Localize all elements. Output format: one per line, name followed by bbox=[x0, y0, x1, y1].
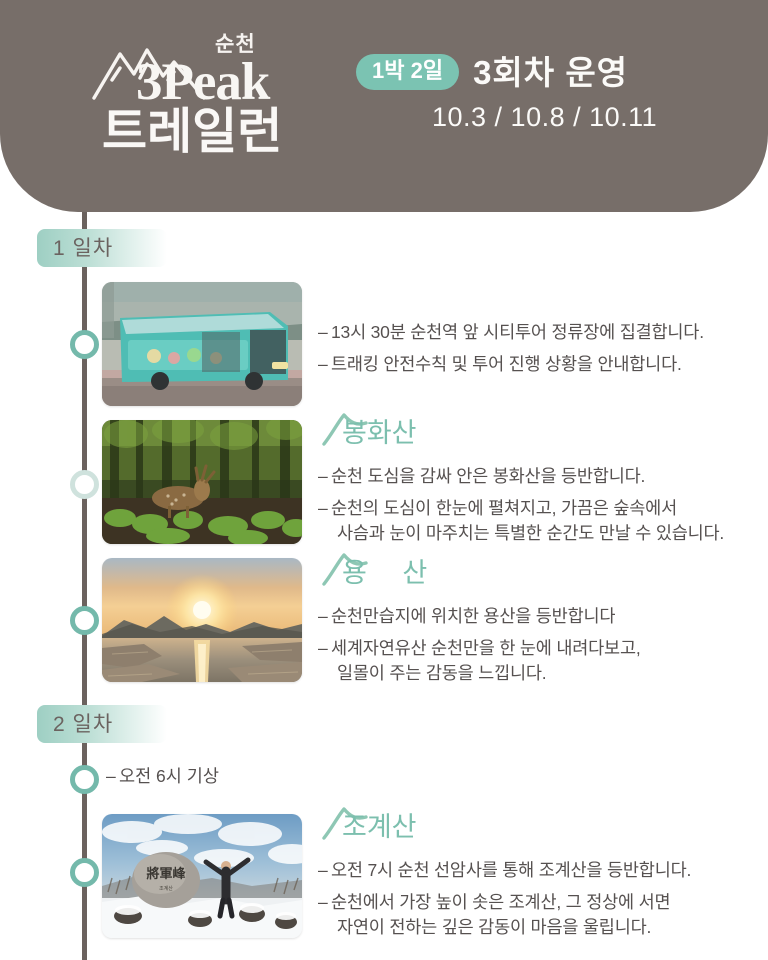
section-name: 봉화산 bbox=[342, 420, 417, 447]
bullet-text: 순천에서 가장 높이 솟은 조계산, 그 정상에 서면 자연이 전하는 깊은 감… bbox=[331, 890, 758, 940]
section-heading-bonghwasan: 봉화산 bbox=[318, 418, 758, 458]
forest-deer-photo bbox=[102, 420, 302, 544]
session-title: 3회차 운영 bbox=[473, 56, 628, 89]
bullet-line-1: 순천의 도심이 한눈에 펼쳐지고, 가끔은 숲속에서 bbox=[331, 498, 677, 518]
timeline-node-1 bbox=[70, 330, 99, 359]
section-heading-yongsan: 용 산 bbox=[318, 558, 758, 598]
duration-badge: 1박 2일 bbox=[356, 54, 459, 90]
snowy-summit-photo: 將軍峰 조계산 bbox=[102, 814, 302, 938]
bullet-line-2: 사슴과 눈이 마주치는 특별한 순간도 만날 수 있습니다. bbox=[331, 521, 758, 546]
section-3-text: 용 산 – 순천만습지에 위치한 용산을 등반합니다 – 세계자연유산 순천만을… bbox=[318, 558, 758, 693]
day-chip-1: 1 일차 bbox=[37, 229, 167, 267]
bullet-line-2: 일몰이 주는 감동을 느낍니다. bbox=[331, 661, 758, 686]
header-title-row: 1박 2일 3회차 운영 bbox=[356, 54, 686, 90]
city-tour-bus-photo bbox=[102, 282, 302, 406]
bullet-item: – 세계자연유산 순천만을 한 눈에 내려다보고, 일몰이 주는 감동을 느낍니… bbox=[318, 636, 758, 686]
bullet-dash: – bbox=[318, 464, 331, 489]
bullet-item: – 순천에서 가장 높이 솟은 조계산, 그 정상에 서면 자연이 전하는 깊은… bbox=[318, 890, 758, 940]
page-header: 순천 3Peak 트레일런 1박 2일 3회차 운영 10.3 / 10.8 /… bbox=[0, 0, 768, 212]
section-heading-jogyesan: 조계산 bbox=[318, 812, 758, 852]
bullet-dash: – bbox=[318, 320, 331, 345]
bullet-text: 세계자연유산 순천만을 한 눈에 내려다보고, 일몰이 주는 감동을 느낍니다. bbox=[331, 636, 758, 686]
bullet-dash: – bbox=[318, 858, 331, 883]
bullet-line-2: 자연이 전하는 깊은 감동이 마음을 울립니다. bbox=[331, 915, 758, 940]
day-chip-2: 2 일차 bbox=[37, 705, 167, 743]
section-2-text: 봉화산 – 순천 도심을 감싸 안은 봉화산을 등반합니다. – 순천의 도심이… bbox=[318, 418, 758, 553]
bullet-item: – 순천 도심을 감싸 안은 봉화산을 등반합니다. bbox=[318, 464, 758, 489]
bullet-item: – 오전 7시 순천 선암사를 통해 조계산을 등반합니다. bbox=[318, 858, 758, 883]
bullet-dash: – bbox=[318, 352, 331, 377]
bullet-dash: – bbox=[318, 496, 331, 546]
bullet-item: – 트래킹 안전수칙 및 투어 진행 상황을 안내합니다. bbox=[318, 352, 758, 377]
header-content: 순천 3Peak 트레일런 1박 2일 3회차 운영 10.3 / 10.8 /… bbox=[0, 34, 768, 174]
timeline-node-4 bbox=[70, 765, 99, 794]
timeline-node-5 bbox=[70, 858, 99, 887]
day-chip-2-label: 2 일차 bbox=[53, 714, 113, 735]
summit-marker-stone: 將軍峰 조계산 bbox=[132, 852, 200, 908]
timeline-node-2 bbox=[70, 470, 99, 499]
header-info: 1박 2일 3회차 운영 10.3 / 10.8 / 10.11 bbox=[356, 34, 686, 131]
section-1-text: – 13시 30분 순천역 앞 시티투어 정류장에 집결합니다. – 트래킹 안… bbox=[318, 320, 758, 384]
bullet-item: – 순천만습지에 위치한 용산을 등반합니다 bbox=[318, 604, 758, 629]
bullet-line-1: 순천에서 가장 높이 솟은 조계산, 그 정상에 서면 bbox=[331, 892, 670, 912]
day-chip-1-label: 1 일차 bbox=[53, 238, 113, 259]
brand-logo: 순천 3Peak 트레일런 bbox=[82, 34, 330, 166]
timeline-line bbox=[82, 178, 87, 960]
sunset-wetland-photo bbox=[102, 558, 302, 682]
session-dates: 10.3 / 10.8 / 10.11 bbox=[432, 104, 686, 131]
bullet-dash: – bbox=[318, 890, 331, 940]
logo-subtext: 순천 bbox=[215, 34, 256, 55]
bullet-text: 순천 도심을 감싸 안은 봉화산을 등반합니다. bbox=[331, 464, 758, 489]
note-text: 오전 6시 기상 bbox=[119, 764, 219, 789]
section-name: 조계산 bbox=[342, 814, 417, 841]
svg-text:將軍峰: 將軍峰 bbox=[146, 866, 186, 882]
bullet-text: 13시 30분 순천역 앞 시티투어 정류장에 집결합니다. bbox=[331, 320, 758, 345]
bullet-dash: – bbox=[318, 636, 331, 686]
logo-maintext: 3Peak bbox=[136, 56, 269, 109]
bullet-dash: – bbox=[318, 604, 331, 629]
bullet-text: 순천만습지에 위치한 용산을 등반합니다 bbox=[331, 604, 758, 629]
timeline-node-3 bbox=[70, 606, 99, 635]
day2-wakeup-note: – 오전 6시 기상 bbox=[106, 764, 219, 789]
bullet-text: 트래킹 안전수칙 및 투어 진행 상황을 안내합니다. bbox=[331, 352, 758, 377]
section-4-text: 조계산 – 오전 7시 순천 선암사를 통해 조계산을 등반합니다. – 순천에… bbox=[318, 812, 758, 947]
bullet-line-1: 세계자연유산 순천만을 한 눈에 내려다보고, bbox=[331, 638, 641, 658]
logo-korean-text: 트레일런 bbox=[102, 108, 282, 157]
bullet-text: 오전 7시 순천 선암사를 통해 조계산을 등반합니다. bbox=[331, 858, 758, 883]
bullet-item: – 13시 30분 순천역 앞 시티투어 정류장에 집결합니다. bbox=[318, 320, 758, 345]
note-dash: – bbox=[106, 764, 119, 789]
bullet-item: – 순천의 도심이 한눈에 펼쳐지고, 가끔은 숲속에서 사슴과 눈이 마주치는… bbox=[318, 496, 758, 546]
section-name: 용 산 bbox=[342, 560, 441, 587]
svg-text:조계산: 조계산 bbox=[159, 885, 173, 892]
bullet-text: 순천의 도심이 한눈에 펼쳐지고, 가끔은 숲속에서 사슴과 눈이 마주치는 특… bbox=[331, 496, 758, 546]
